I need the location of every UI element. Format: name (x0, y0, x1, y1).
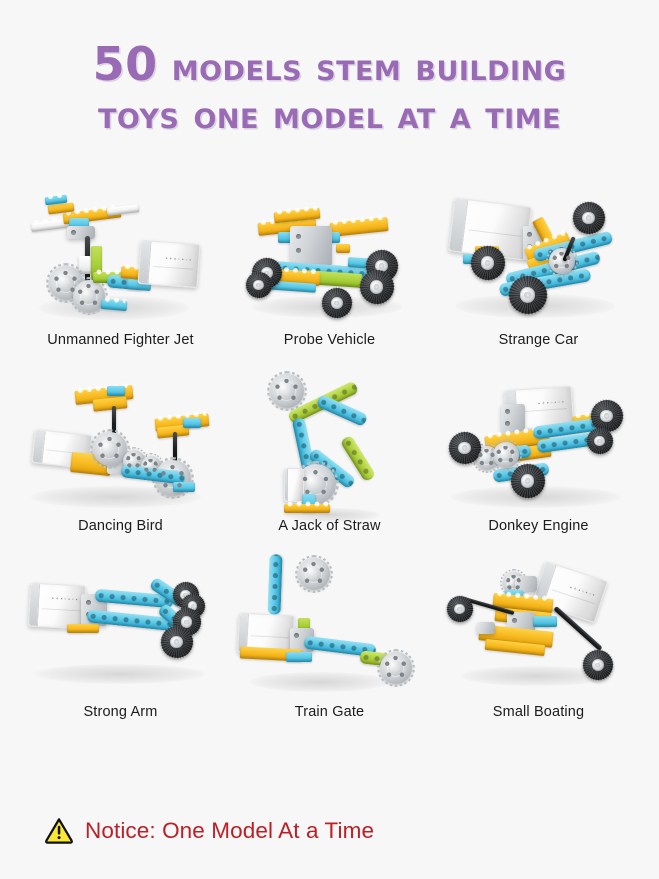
model-caption: Strange Car (499, 332, 579, 348)
product-infographic: { "background_color": "#f7f7f7", "headli… (0, 0, 659, 879)
probe-vehicle-build (232, 184, 428, 330)
model-cell-train-gate: Train Gate (225, 534, 434, 720)
model-cell-donkey-engine: ▪+▪▫▪▫▪ Donkey Engine (434, 348, 643, 534)
train-gate-build (232, 556, 428, 702)
hub-marks: ▪+▪▫▪▫▪ (165, 256, 193, 264)
fighter-jet-build: ▪+▪▫▪▫▪ (23, 184, 219, 330)
model-caption: Dancing Bird (78, 518, 163, 534)
model-cell-probe-vehicle: Probe Vehicle (225, 162, 434, 348)
model-caption: A Jack of Straw (278, 518, 380, 534)
model-cell-a-jack-of-straw: A Jack of Straw (225, 348, 434, 534)
jack-of-straw-build (232, 370, 428, 516)
model-cell-strange-car: Strange Car (434, 162, 643, 348)
dancing-bird-build (23, 370, 219, 516)
warning-triangle-icon (44, 816, 74, 846)
notice-bar: Notice: One Model At a Time (44, 816, 374, 846)
headline-line-1: 50 Models STEM Building (34, 40, 625, 92)
models-grid: ▪+▪▫▪▫▪ Unmanned Fighter Jet (0, 162, 659, 720)
model-caption: Strong Arm (83, 704, 157, 720)
model-caption: Donkey Engine (488, 518, 588, 534)
strong-arm-build: ▪+▪▫▪▫▪ (23, 556, 219, 702)
headline-line-2: Toys one Model At a Time (34, 92, 625, 140)
model-caption: Train Gate (295, 704, 364, 720)
model-cell-strong-arm: ▪+▪▫▪▫▪ Strong Arm (16, 534, 225, 720)
small-boating-build: ▪+▪▫▪▫▪ (441, 556, 637, 702)
model-cell-dancing-bird: Dancing Bird (16, 348, 225, 534)
notice-text: Notice: One Model At a Time (85, 818, 374, 844)
model-cell-small-boating: ▪+▪▫▪▫▪ Small Boating (434, 534, 643, 720)
headline-count: 50 (93, 37, 158, 91)
headline-line-1-text: Models STEM Building (172, 45, 567, 90)
model-caption: Small Boating (493, 704, 584, 720)
model-caption: Probe Vehicle (284, 332, 375, 348)
strange-car-build (441, 184, 637, 330)
donkey-engine-build: ▪+▪▫▪▫▪ (441, 370, 637, 516)
model-cell-unmanned-fighter-jet: ▪+▪▫▪▫▪ Unmanned Fighter Jet (16, 162, 225, 348)
model-caption: Unmanned Fighter Jet (47, 332, 193, 348)
headline: 50 Models STEM Building Toys one Model A… (0, 0, 659, 140)
